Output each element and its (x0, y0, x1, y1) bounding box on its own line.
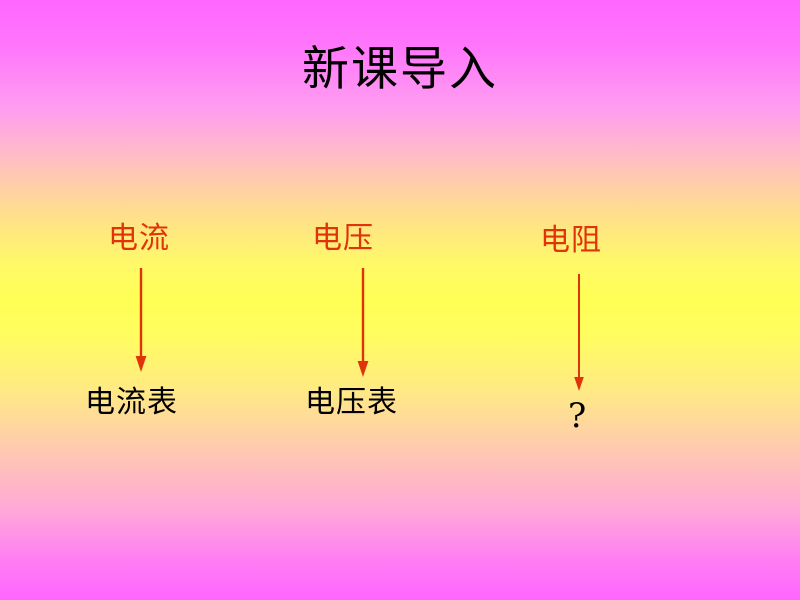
source-label-voltage: 电压 (312, 224, 374, 254)
source-label-current: 电流 (108, 224, 170, 254)
target-label-voltmeter: 电压表 (305, 388, 398, 418)
target-label-ammeter: 电流表 (85, 388, 178, 418)
target-label-question: ? (568, 399, 586, 433)
arrow-current (132, 268, 150, 373)
arrow-resistance (570, 274, 588, 392)
page-title: 新课导入 (0, 44, 800, 96)
source-label-resistance: 电阻 (540, 226, 602, 256)
slide-canvas: 新课导入 电流 电流表 电压 电压表 电阻 ? (0, 0, 800, 600)
arrow-voltage (354, 268, 372, 378)
